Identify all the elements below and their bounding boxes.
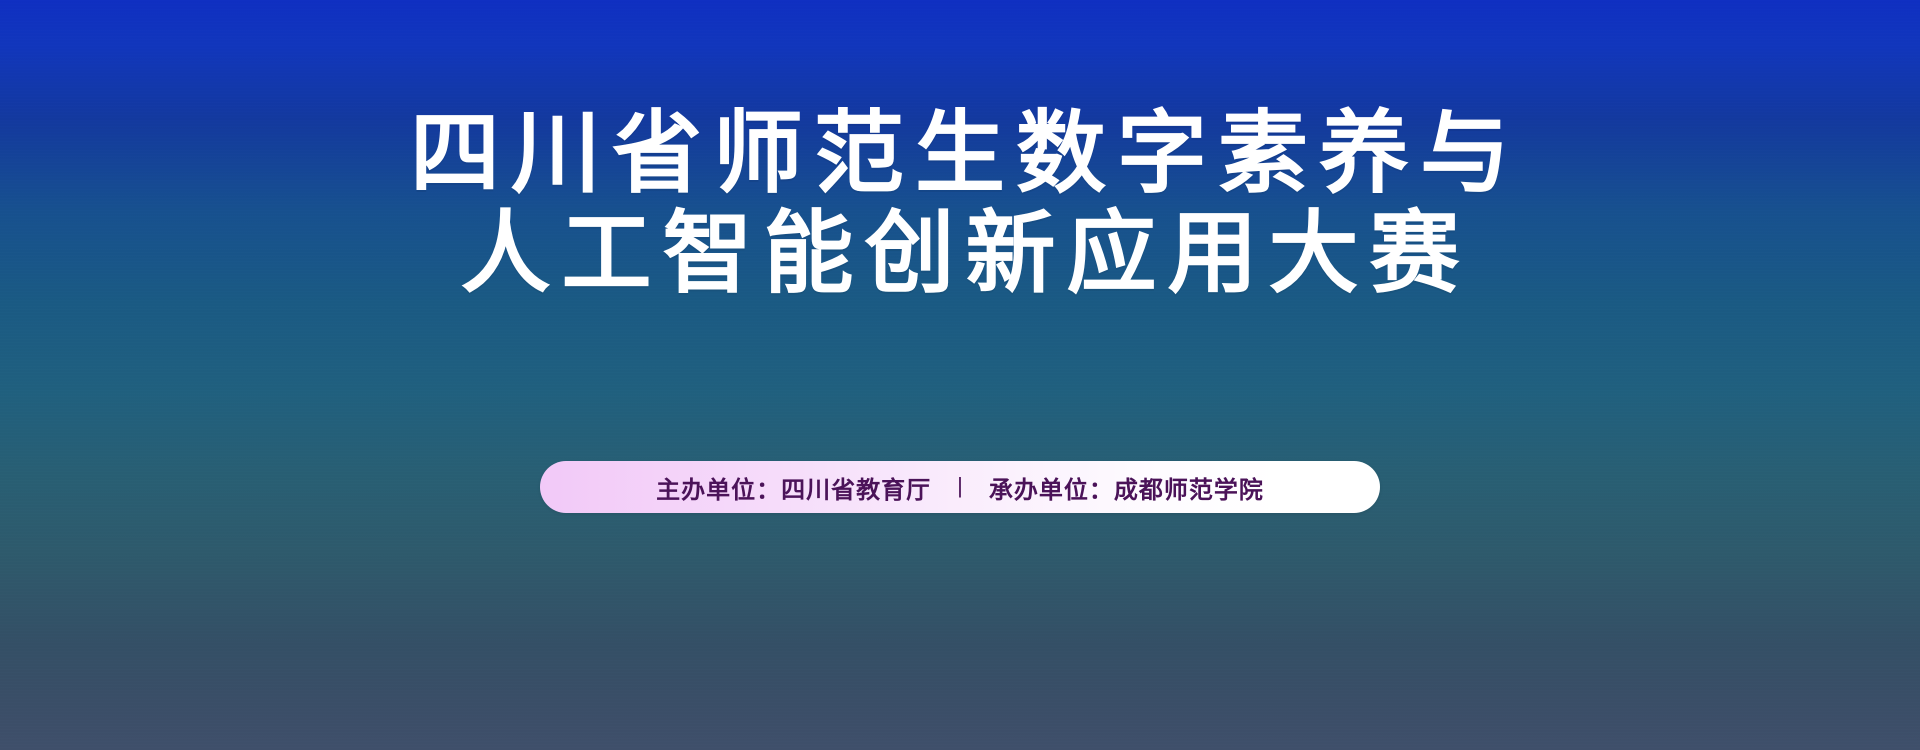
organizers-pill: 主办单位：四川省教育厅 | 承办单位：成都师范学院 (540, 461, 1380, 513)
title-line-2: 人工智能创新应用大赛 (0, 204, 1920, 304)
banner-root: 四川省师范生数字素养与 人工智能创新应用大赛 主办单位：四川省教育厅 | 承办单… (0, 0, 1920, 750)
coorganizer-organization-label: 承办单位：成都师范学院 (989, 470, 1264, 505)
title-line-1: 四川省师范生数字素养与 (0, 104, 1920, 204)
host-organization-label: 主办单位：四川省教育厅 (656, 470, 931, 505)
banner-title: 四川省师范生数字素养与 人工智能创新应用大赛 (0, 104, 1920, 304)
pill-separator: | (957, 473, 963, 499)
